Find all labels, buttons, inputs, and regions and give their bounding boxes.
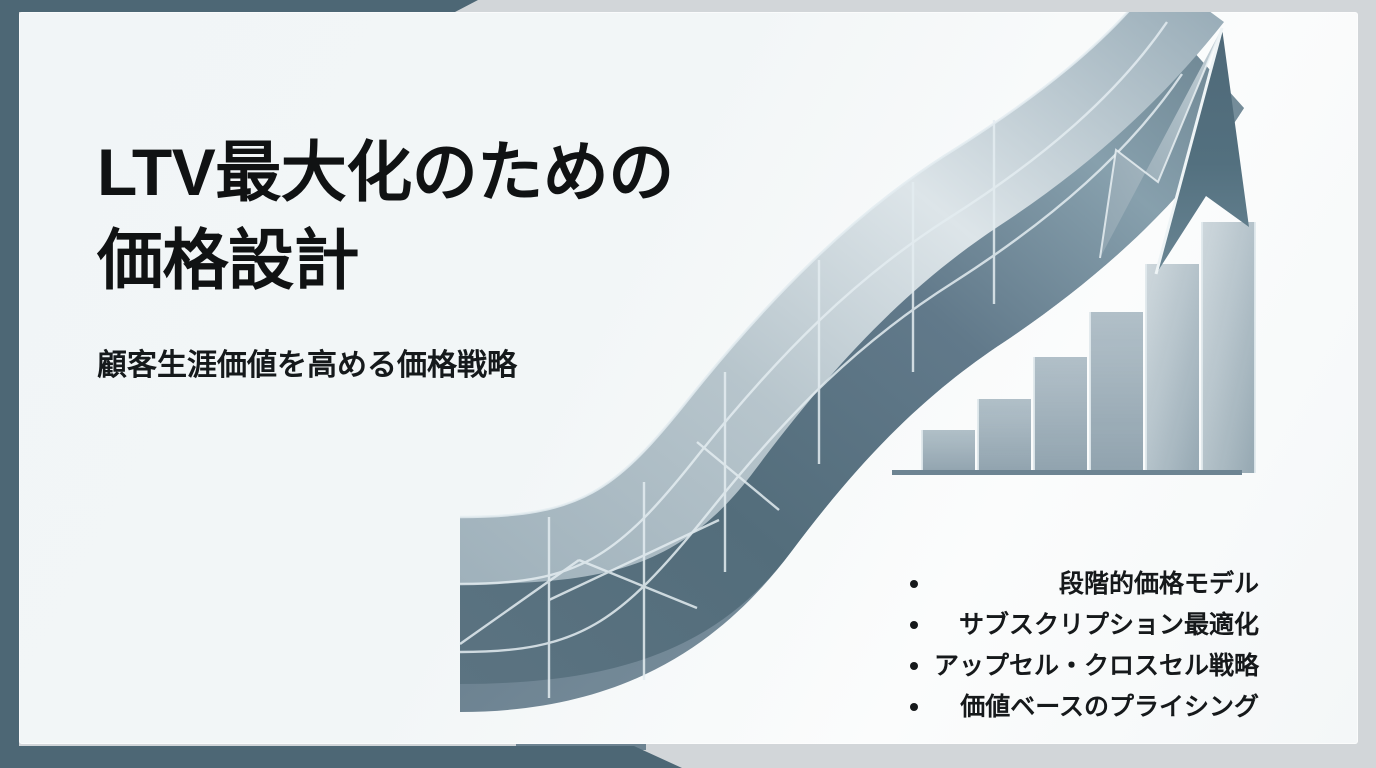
bullet-dot-icon (910, 662, 918, 670)
bullet-dot-icon (910, 580, 918, 588)
frame-band-bottom-dark (0, 746, 700, 768)
key-points-list: 段階的価格モデル サブスクリプション最適化 アップセル・クロスセル戦略 価値ベー… (904, 564, 1259, 728)
list-item-label: 段階的価格モデル (1059, 570, 1259, 598)
chart-baseline (892, 470, 1242, 475)
frame-band-top-dark (0, 0, 478, 12)
frame-band-left-dark (0, 0, 19, 768)
list-item-label: アップセル・クロスセル戦略 (934, 652, 1259, 680)
slide-canvas: LTV最大化のための 価格設計 顧客生涯価値を高める価格戦略 段階的価格モデル … (19, 12, 1358, 744)
page-title: LTV最大化のための 価格設計 (97, 128, 857, 304)
list-item: 段階的価格モデル (904, 564, 1259, 605)
frame-band-right-grey (1358, 0, 1376, 768)
list-item-label: サブスクリプション最適化 (959, 611, 1259, 639)
list-item: 価値ベースのプライシング (904, 687, 1259, 728)
page-subtitle: 顧客生涯価値を高める価格戦略 (97, 345, 517, 387)
slide-root: LTV最大化のための 価格設計 顧客生涯価値を高める価格戦略 段階的価格モデル … (0, 0, 1376, 768)
bullet-dot-icon (910, 621, 918, 629)
bullet-dot-icon (910, 703, 918, 711)
list-item-label: 価値ベースのプライシング (960, 693, 1259, 721)
list-item: サブスクリプション最適化 (904, 605, 1259, 646)
list-item: アップセル・クロスセル戦略 (904, 646, 1259, 687)
